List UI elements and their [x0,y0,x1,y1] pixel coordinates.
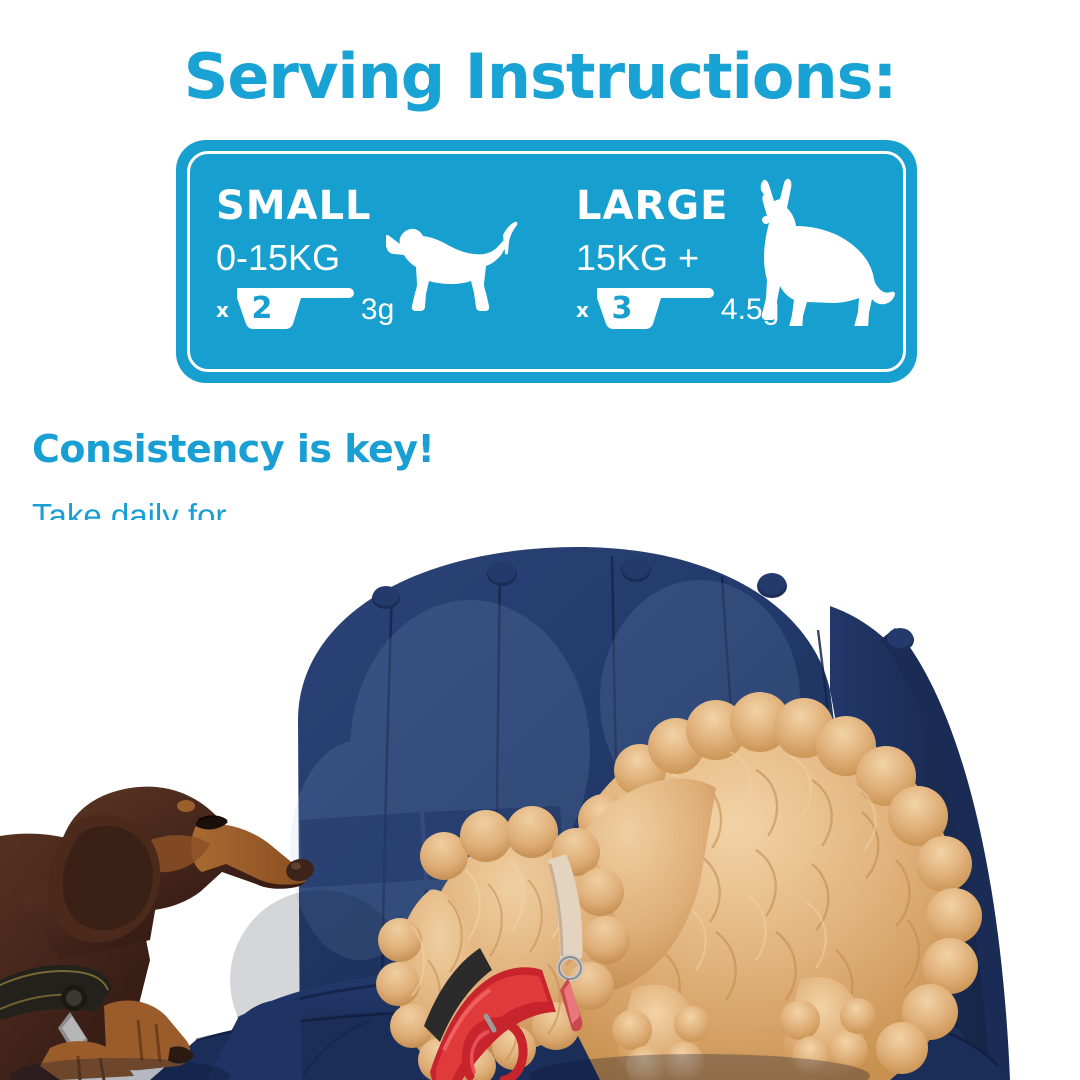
serving-column-large: LARGE 15KG + x 3 4.5g [576,140,916,383]
scoop-count-small: 2 [245,294,279,324]
serving-instructions-panel: SMALL 0-15KG x 2 3g [176,140,917,383]
weight-range-small: 0-15KG [216,240,340,276]
page-title: Serving Instructions: [0,44,1080,109]
size-label-large: LARGE [576,186,728,226]
infographic-canvas: Serving Instructions: SMALL 0-15KG x 2 3… [0,0,1080,1080]
consistency-heading: Consistency is key! [32,430,492,470]
multiplier-label-small: x [216,300,229,320]
small-dog-silhouette-icon [386,218,526,327]
large-dog-silhouette-icon [736,178,896,331]
scoop-icon-small: 2 [231,284,359,336]
serving-column-small: SMALL 0-15KG x 2 3g [216,140,546,383]
size-label-small: SMALL [216,186,372,226]
scoop-row-small: x 2 3g [216,286,394,334]
scoop-icon-large: 3 [591,284,719,336]
weight-range-large: 15KG + [576,240,699,276]
two-dogs-on-navy-armchair-photo [0,520,1080,1080]
multiplier-label-large: x [576,300,589,320]
scoop-count-large: 3 [605,294,639,324]
